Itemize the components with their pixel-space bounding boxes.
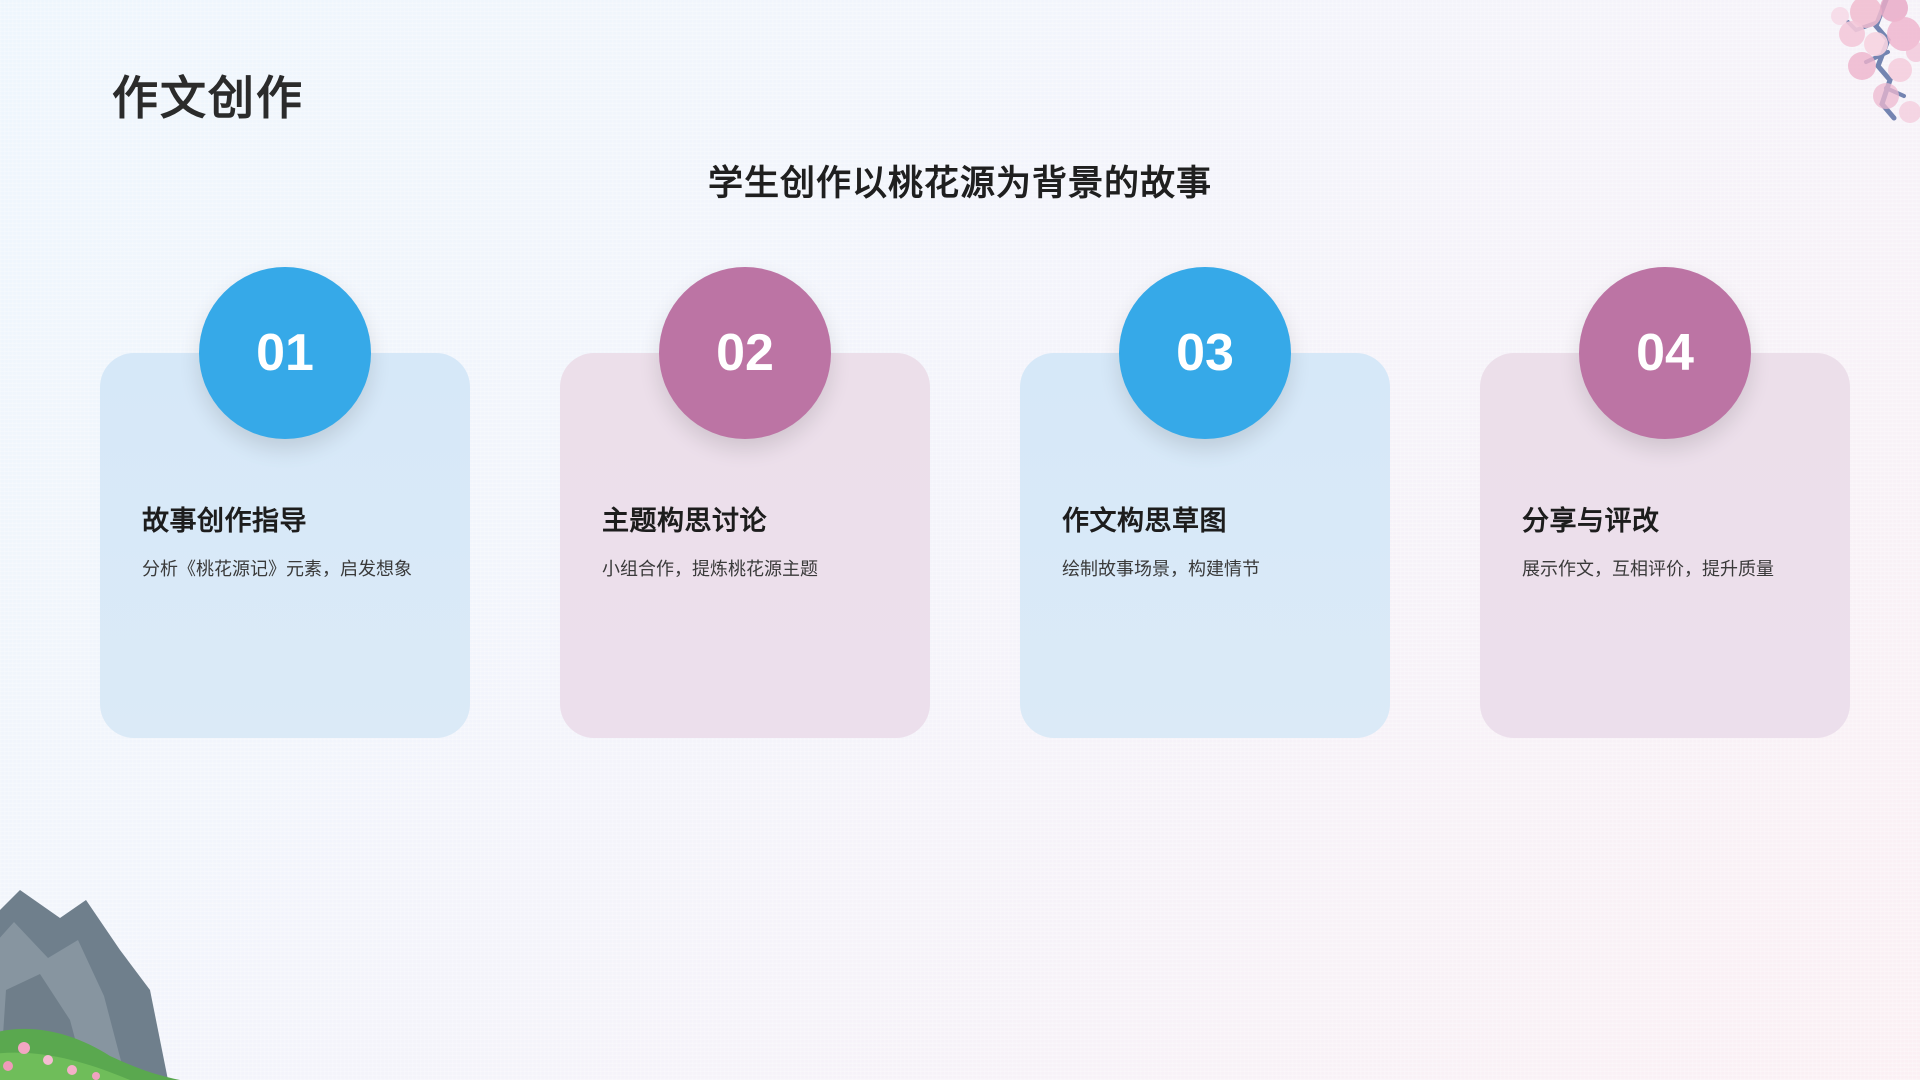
card-title-04: 分享与评改: [1522, 499, 1660, 538]
card-title-03: 作文构思草图: [1062, 499, 1227, 538]
slide-canvas: 作文创作 学生创作以桃花源为背景的故事 01 故事创作指导 分析《桃花源记》元素…: [0, 0, 1920, 1080]
card-title-02: 主题构思讨论: [602, 499, 767, 538]
card-title-01: 故事创作指导: [142, 499, 307, 538]
page-title: 作文创作: [112, 62, 304, 128]
card-number-badge-03: 03: [1119, 267, 1291, 439]
card-03[interactable]: 03 作文构思草图 绘制故事场景，构建情节: [1020, 353, 1390, 738]
card-01[interactable]: 01 故事创作指导 分析《桃花源记》元素，启发想象: [100, 353, 470, 738]
card-description-04: 展示作文，互相评价，提升质量: [1522, 555, 1816, 584]
card-number-badge-01: 01: [199, 267, 371, 439]
card-description-01: 分析《桃花源记》元素，启发想象: [142, 555, 436, 584]
rock-and-grass-scenery-icon: [0, 870, 230, 1080]
slide-subtitle: 学生创作以桃花源为背景的故事: [0, 155, 1920, 206]
card-description-03: 绘制故事场景，构建情节: [1062, 555, 1356, 584]
card-description-02: 小组合作，提炼桃花源主题: [602, 555, 896, 584]
cards-row: 01 故事创作指导 分析《桃花源记》元素，启发想象 02 主题构思讨论 小组合作…: [100, 353, 1850, 738]
card-04[interactable]: 04 分享与评改 展示作文，互相评价，提升质量: [1480, 353, 1850, 738]
card-02[interactable]: 02 主题构思讨论 小组合作，提炼桃花源主题: [560, 353, 930, 738]
card-number-badge-04: 04: [1579, 267, 1751, 439]
card-number-badge-02: 02: [659, 267, 831, 439]
cherry-blossom-branch-icon: [1690, 0, 1920, 170]
